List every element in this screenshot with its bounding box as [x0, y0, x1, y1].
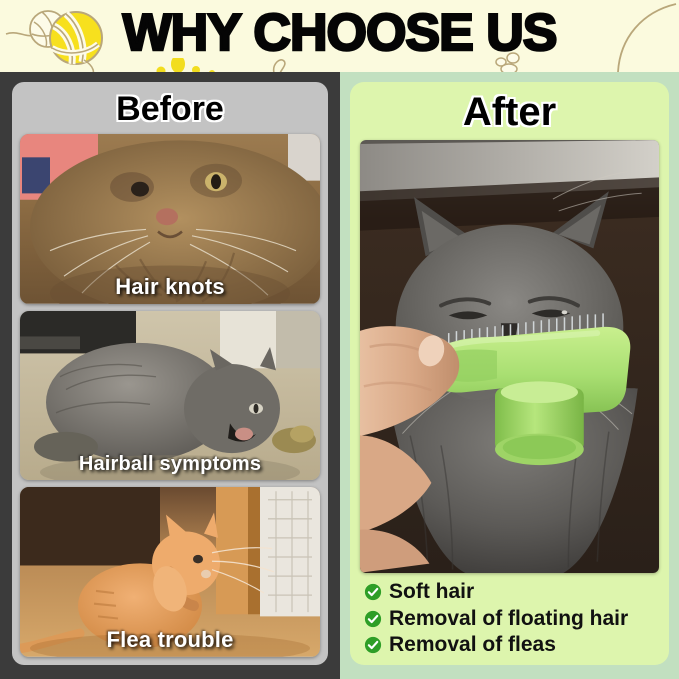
before-tile-hair-knots[interactable]: Hair knots	[20, 134, 320, 304]
header-banner: WHY CHOOSE US	[0, 0, 679, 72]
benefits-list: Soft hair Removal of floating hair	[360, 580, 659, 657]
before-tile-caption: Flea trouble	[20, 627, 320, 653]
benefit-item: Soft hair	[364, 580, 659, 604]
benefit-item: Removal of floating hair	[364, 607, 659, 631]
before-tile-caption: Hairball symptoms	[20, 453, 320, 476]
before-tile-hairball[interactable]: Hairball symptoms	[20, 311, 320, 481]
before-heading: Before	[20, 88, 320, 134]
benefit-label: Soft hair	[389, 580, 474, 604]
benefit-item: Removal of fleas	[364, 633, 659, 657]
comparison-panels: Before	[0, 72, 679, 679]
check-circle-icon	[364, 610, 382, 628]
benefit-label: Removal of floating hair	[389, 607, 628, 631]
check-circle-icon	[364, 583, 382, 601]
after-heading: After	[360, 86, 659, 140]
benefit-label: Removal of fleas	[389, 633, 556, 657]
photo-groomed-cat	[360, 140, 659, 573]
before-panel: Before	[0, 72, 340, 679]
page-title: WHY CHOOSE US	[0, 0, 679, 66]
infographic-page: WHY CHOOSE US	[0, 0, 679, 679]
after-card: After	[350, 82, 669, 665]
before-card: Before	[12, 82, 328, 665]
after-panel: After	[340, 72, 679, 679]
before-tile-flea[interactable]: Flea trouble	[20, 487, 320, 657]
before-tile-caption: Hair knots	[20, 274, 320, 300]
before-tiles: Hair knots	[20, 134, 320, 657]
after-photo[interactable]	[360, 140, 659, 573]
check-circle-icon	[364, 636, 382, 654]
